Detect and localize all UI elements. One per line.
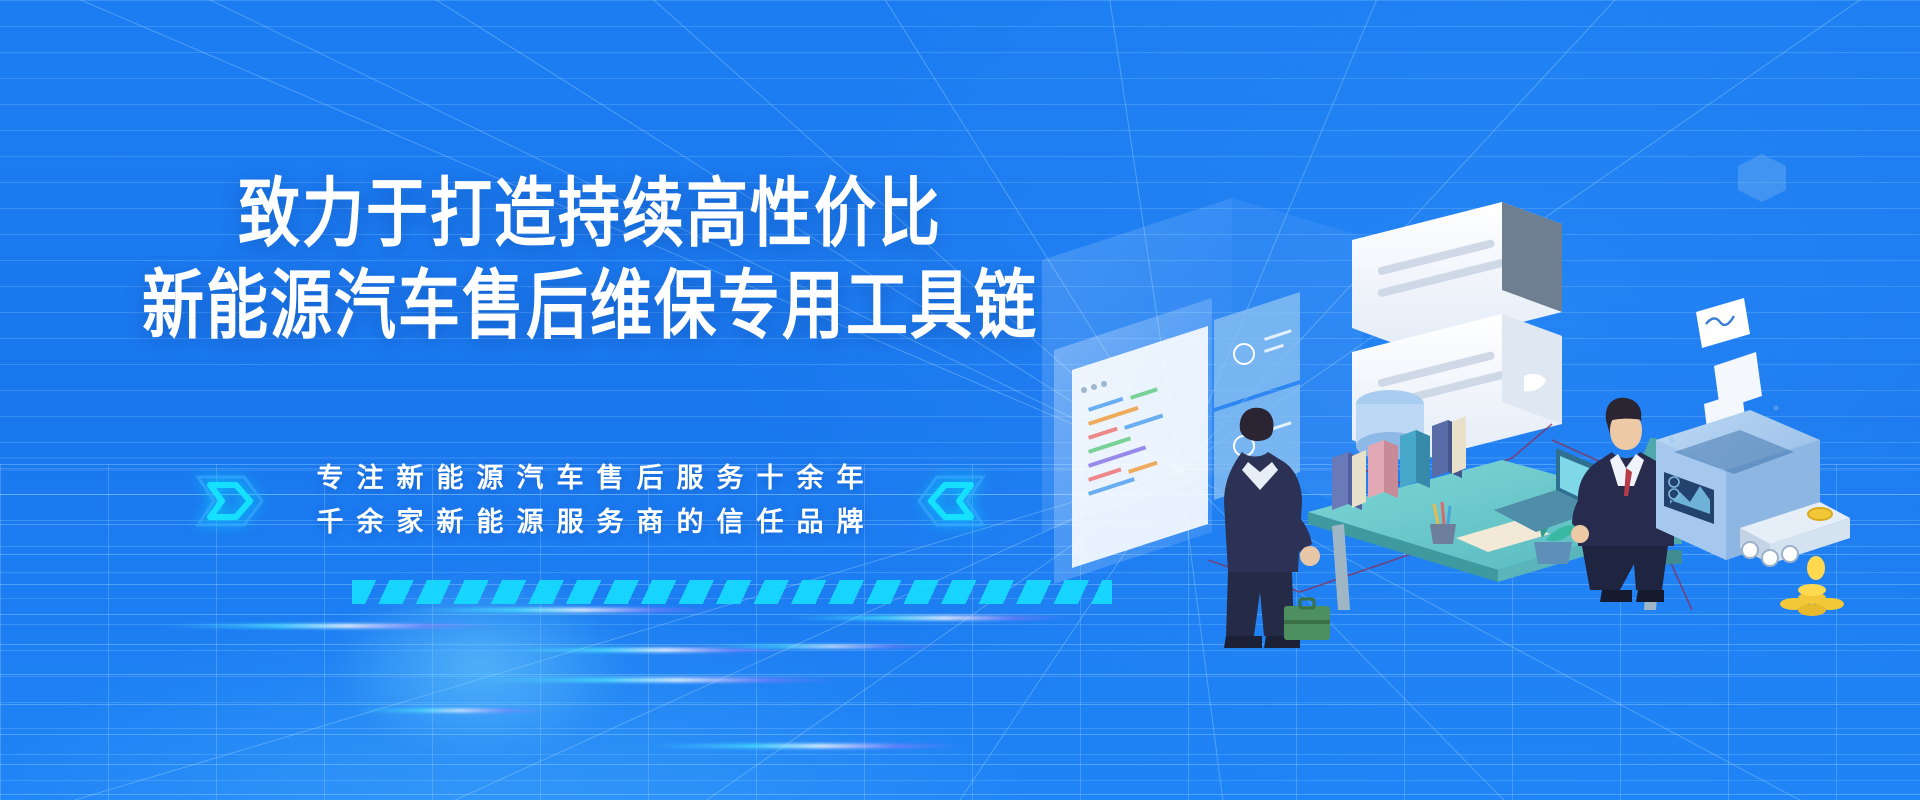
subtitle-row: 专注新能源汽车售后服务十余年 千余家新能源服务商的信任品牌 xyxy=(0,455,1180,547)
isometric-business-meeting-illustration xyxy=(1032,140,1892,660)
arrow-left-outline-icon xyxy=(905,455,997,547)
headline-line-1: 致力于打造持续高性价比 xyxy=(0,170,1180,258)
headline-line-2: 新能源汽车售后维保专用工具链 xyxy=(0,262,1180,350)
subtitle-line-2: 千余家新能源服务商的信任品牌 xyxy=(304,501,877,545)
subtitle-lines: 专注新能源汽车售后服务十余年 千余家新能源服务商的信任品牌 xyxy=(304,457,877,545)
banner-text-block: 致力于打造持续高性价比 新能源汽车售后维保专用工具链 专注新能源汽车售后服务十余… xyxy=(0,0,1180,800)
arrow-right-outline-icon xyxy=(184,455,276,547)
subtitle-line-1: 专注新能源汽车售后服务十余年 xyxy=(304,457,877,501)
hero-banner: 致力于打造持续高性价比 新能源汽车售后维保专用工具链 专注新能源汽车售后服务十余… xyxy=(0,0,1920,800)
diagonal-stripe-bar xyxy=(352,580,1112,604)
